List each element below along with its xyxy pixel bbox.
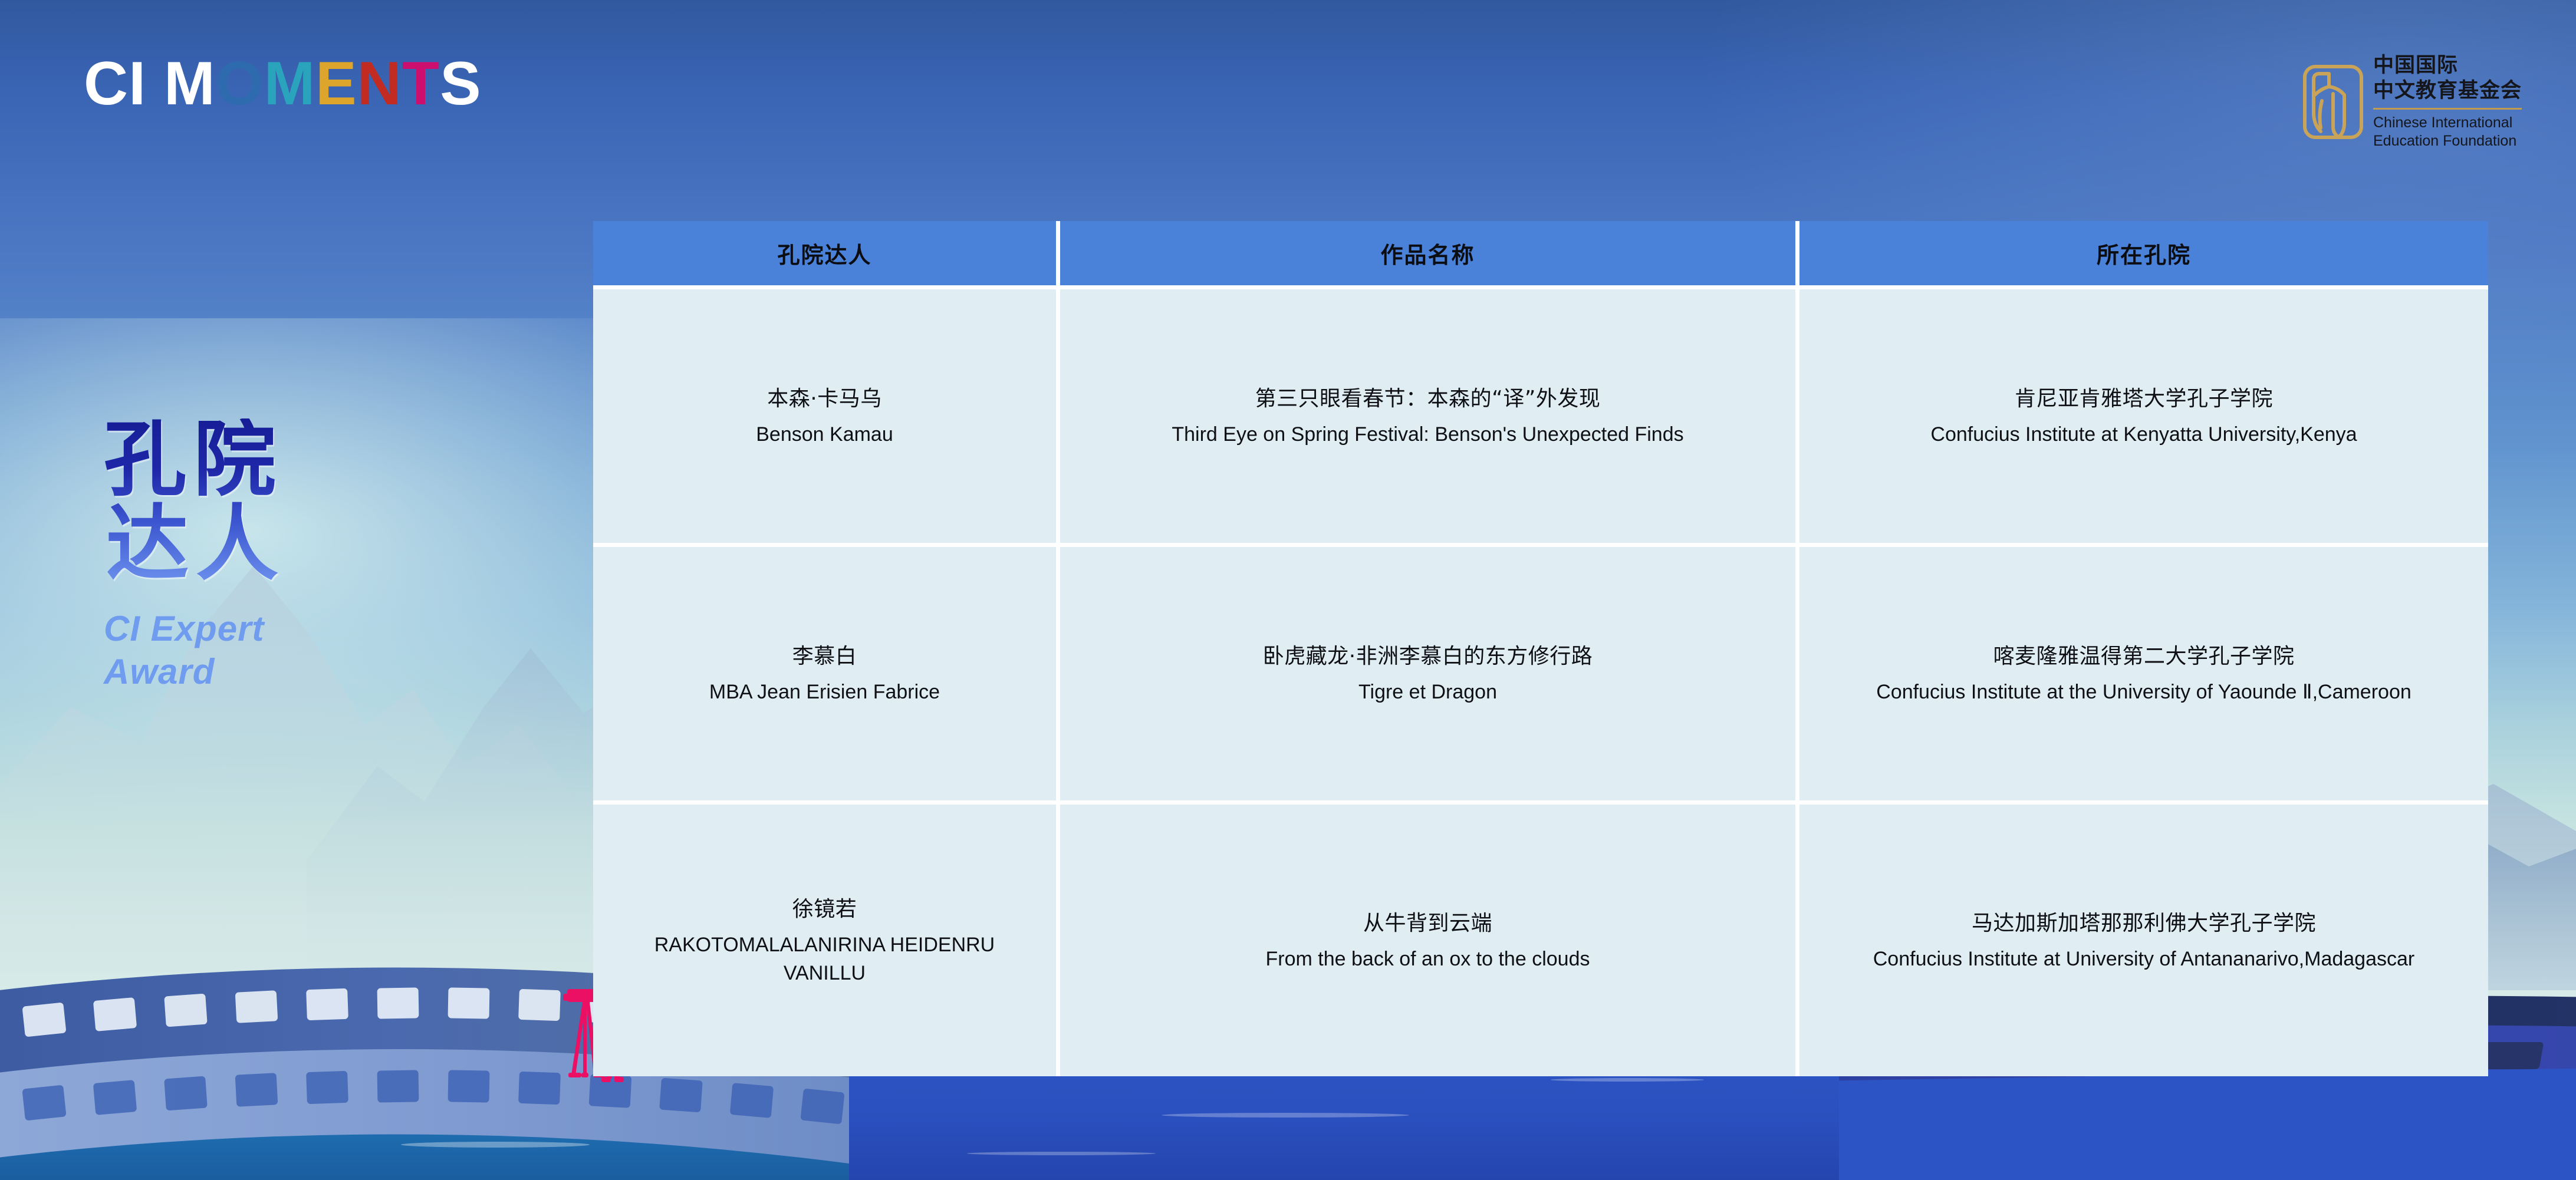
cief-cn-line2: 中文教育基金会	[2373, 78, 2522, 104]
cell-work: 从牛背到云端 From the back of an ox to the clo…	[1060, 800, 1799, 1076]
cell-institute: 喀麦隆雅温得第二大学孔子学院 Confucius Institute at th…	[1799, 543, 2488, 800]
institute-name-en: Confucius Institute at Kenyatta Universi…	[1820, 420, 2468, 449]
work-title-cn: 第三只眼看春节：本森的“译”外发现	[1080, 383, 1775, 415]
table-row: 李慕白 MBA Jean Erisien Fabrice 卧虎藏龙·非洲李慕白的…	[593, 543, 2488, 800]
cell-person: 徐镜若 RAKOTOMALALANIRINA HEIDENRU VANILLU	[593, 800, 1060, 1076]
award-table: 孔院达人 作品名称 所在孔院 本森·卡马乌 Benson Kamau 第三只眼看…	[593, 221, 2488, 1076]
cell-work: 卧虎藏龙·非洲李慕白的东方修行路 Tigre et Dragon	[1060, 543, 1799, 800]
award-title-cn-line1: 孔院	[104, 418, 481, 503]
table-header-row: 孔院达人 作品名称 所在孔院	[593, 221, 2488, 285]
institute-name-cn: 喀麦隆雅温得第二大学孔子学院	[1820, 641, 2468, 673]
person-name-en: RAKOTOMALALANIRINA HEIDENRU VANILLU	[613, 931, 1036, 988]
table-row: 本森·卡马乌 Benson Kamau 第三只眼看春节：本森的“译”外发现 Th…	[593, 285, 2488, 543]
wordmark-letter-3: M	[164, 53, 216, 114]
cief-divider	[2373, 108, 2522, 110]
table-row: 徐镜若 RAKOTOMALALANIRINA HEIDENRU VANILLU …	[593, 800, 2488, 1076]
institute-name-en: Confucius Institute at the University of…	[1820, 678, 2468, 706]
cief-cn-line1: 中国国际	[2373, 53, 2522, 78]
cell-institute: 肯尼亚肯雅塔大学孔子学院 Confucius Institute at Keny…	[1799, 285, 2488, 543]
cief-en-line2: Education Foundation	[2373, 132, 2522, 150]
wordmark-letter-7: N	[357, 53, 402, 114]
person-name-cn: 徐镜若	[613, 894, 1036, 925]
work-title-cn: 卧虎藏龙·非洲李慕白的东方修行路	[1080, 641, 1775, 673]
person-name-cn: 李慕白	[613, 641, 1036, 673]
wordmark-letter-6: E	[315, 53, 357, 114]
work-title-en: Tigre et Dragon	[1080, 678, 1775, 706]
award-title-en-line2: Award	[104, 650, 481, 693]
cell-work: 第三只眼看春节：本森的“译”外发现 Third Eye on Spring Fe…	[1060, 285, 1799, 543]
award-title-en: CI Expert Award	[104, 607, 481, 693]
institute-name-cn: 肯尼亚肯雅塔大学孔子学院	[1820, 383, 2468, 415]
award-title-en-line1: CI Expert	[104, 607, 481, 650]
person-name-en: MBA Jean Erisien Fabrice	[613, 678, 1036, 706]
cell-person: 李慕白 MBA Jean Erisien Fabrice	[593, 543, 1060, 800]
wordmark-letter-9: S	[440, 53, 481, 114]
wordmark-letter-1: I	[129, 53, 146, 114]
column-header-institute: 所在孔院	[1799, 221, 2488, 285]
cief-seal-icon	[2302, 58, 2364, 146]
award-title-cn-line2: 达人	[106, 503, 481, 587]
award-badge: 孔院 达人 CI Expert Award	[104, 418, 481, 693]
slide-canvas: CIMOMENTS 中国国际 中文教育基金会 Chinese Internati…	[0, 0, 2576, 1180]
work-title-cn: 从牛背到云端	[1080, 908, 1775, 940]
wordmark-letter-5: M	[264, 53, 316, 114]
column-header-work: 作品名称	[1060, 221, 1799, 285]
wordmark-letter-8: T	[402, 53, 440, 114]
cief-logo: 中国国际 中文教育基金会 Chinese International Educa…	[2302, 53, 2522, 150]
cief-en-line1: Chinese International	[2373, 114, 2522, 132]
person-name-en: Benson Kamau	[613, 420, 1036, 449]
institute-name-cn: 马达加斯加塔那那利佛大学孔子学院	[1820, 908, 2468, 940]
award-title-cn: 孔院 达人	[104, 418, 481, 587]
work-title-en: From the back of an ox to the clouds	[1080, 945, 1775, 973]
wordmark-letter-0: C	[84, 53, 129, 114]
wordmark-letter-4: O	[216, 53, 264, 114]
person-name-cn: 本森·卡马乌	[613, 383, 1036, 415]
column-header-person: 孔院达人	[593, 221, 1060, 285]
institute-name-en: Confucius Institute at University of Ant…	[1820, 945, 2468, 973]
cell-institute: 马达加斯加塔那那利佛大学孔子学院 Confucius Institute at …	[1799, 800, 2488, 1076]
work-title-en: Third Eye on Spring Festival: Benson's U…	[1080, 420, 1775, 449]
ci-moments-wordmark: CIMOMENTS	[84, 54, 482, 113]
cell-person: 本森·卡马乌 Benson Kamau	[593, 285, 1060, 543]
